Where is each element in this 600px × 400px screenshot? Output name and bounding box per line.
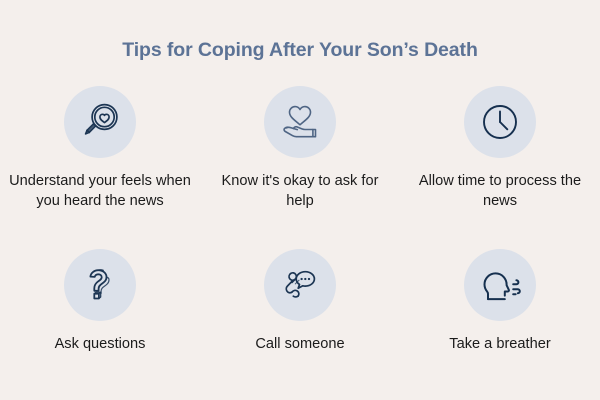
tips-row-bottom: Ask questions [0, 249, 600, 354]
icon-circle [64, 86, 136, 158]
tips-row-top: Understand your feels when you heard the… [0, 86, 600, 211]
tip-caption: Take a breather [449, 334, 550, 354]
clock-icon [478, 100, 522, 144]
icon-circle [64, 249, 136, 321]
phone-speech-bubble-icon [276, 261, 324, 309]
tip-caption: Call someone [255, 334, 344, 354]
tip-caption: Know it's okay to ask for help [215, 171, 385, 211]
icon-circle [464, 249, 536, 321]
head-breathing-icon [476, 262, 524, 308]
tip-item-take-a-breather: Take a breather [400, 249, 600, 354]
tip-caption: Understand your feels when you heard the… [9, 171, 191, 211]
icon-circle [464, 86, 536, 158]
icon-circle [264, 249, 336, 321]
tip-item-understand-feels: Understand your feels when you heard the… [0, 86, 200, 211]
tip-item-allow-time: Allow time to process the news [400, 86, 600, 211]
icon-circle [264, 86, 336, 158]
magnifier-heart-icon [76, 98, 124, 146]
tip-item-ask-for-help: Know it's okay to ask for help [200, 86, 400, 211]
tip-item-call-someone: Call someone [200, 249, 400, 354]
infographic-poster: Tips for Coping After Your Son’s Death [0, 0, 600, 400]
page-title: Tips for Coping After Your Son’s Death [0, 38, 600, 62]
tip-item-ask-questions: Ask questions [0, 249, 200, 354]
tip-caption: Ask questions [55, 334, 146, 354]
tips-grid: Understand your feels when you heard the… [0, 86, 600, 386]
hand-holding-heart-icon [275, 97, 325, 147]
question-mark-icon [78, 262, 122, 308]
tip-caption: Allow time to process the news [415, 171, 585, 211]
